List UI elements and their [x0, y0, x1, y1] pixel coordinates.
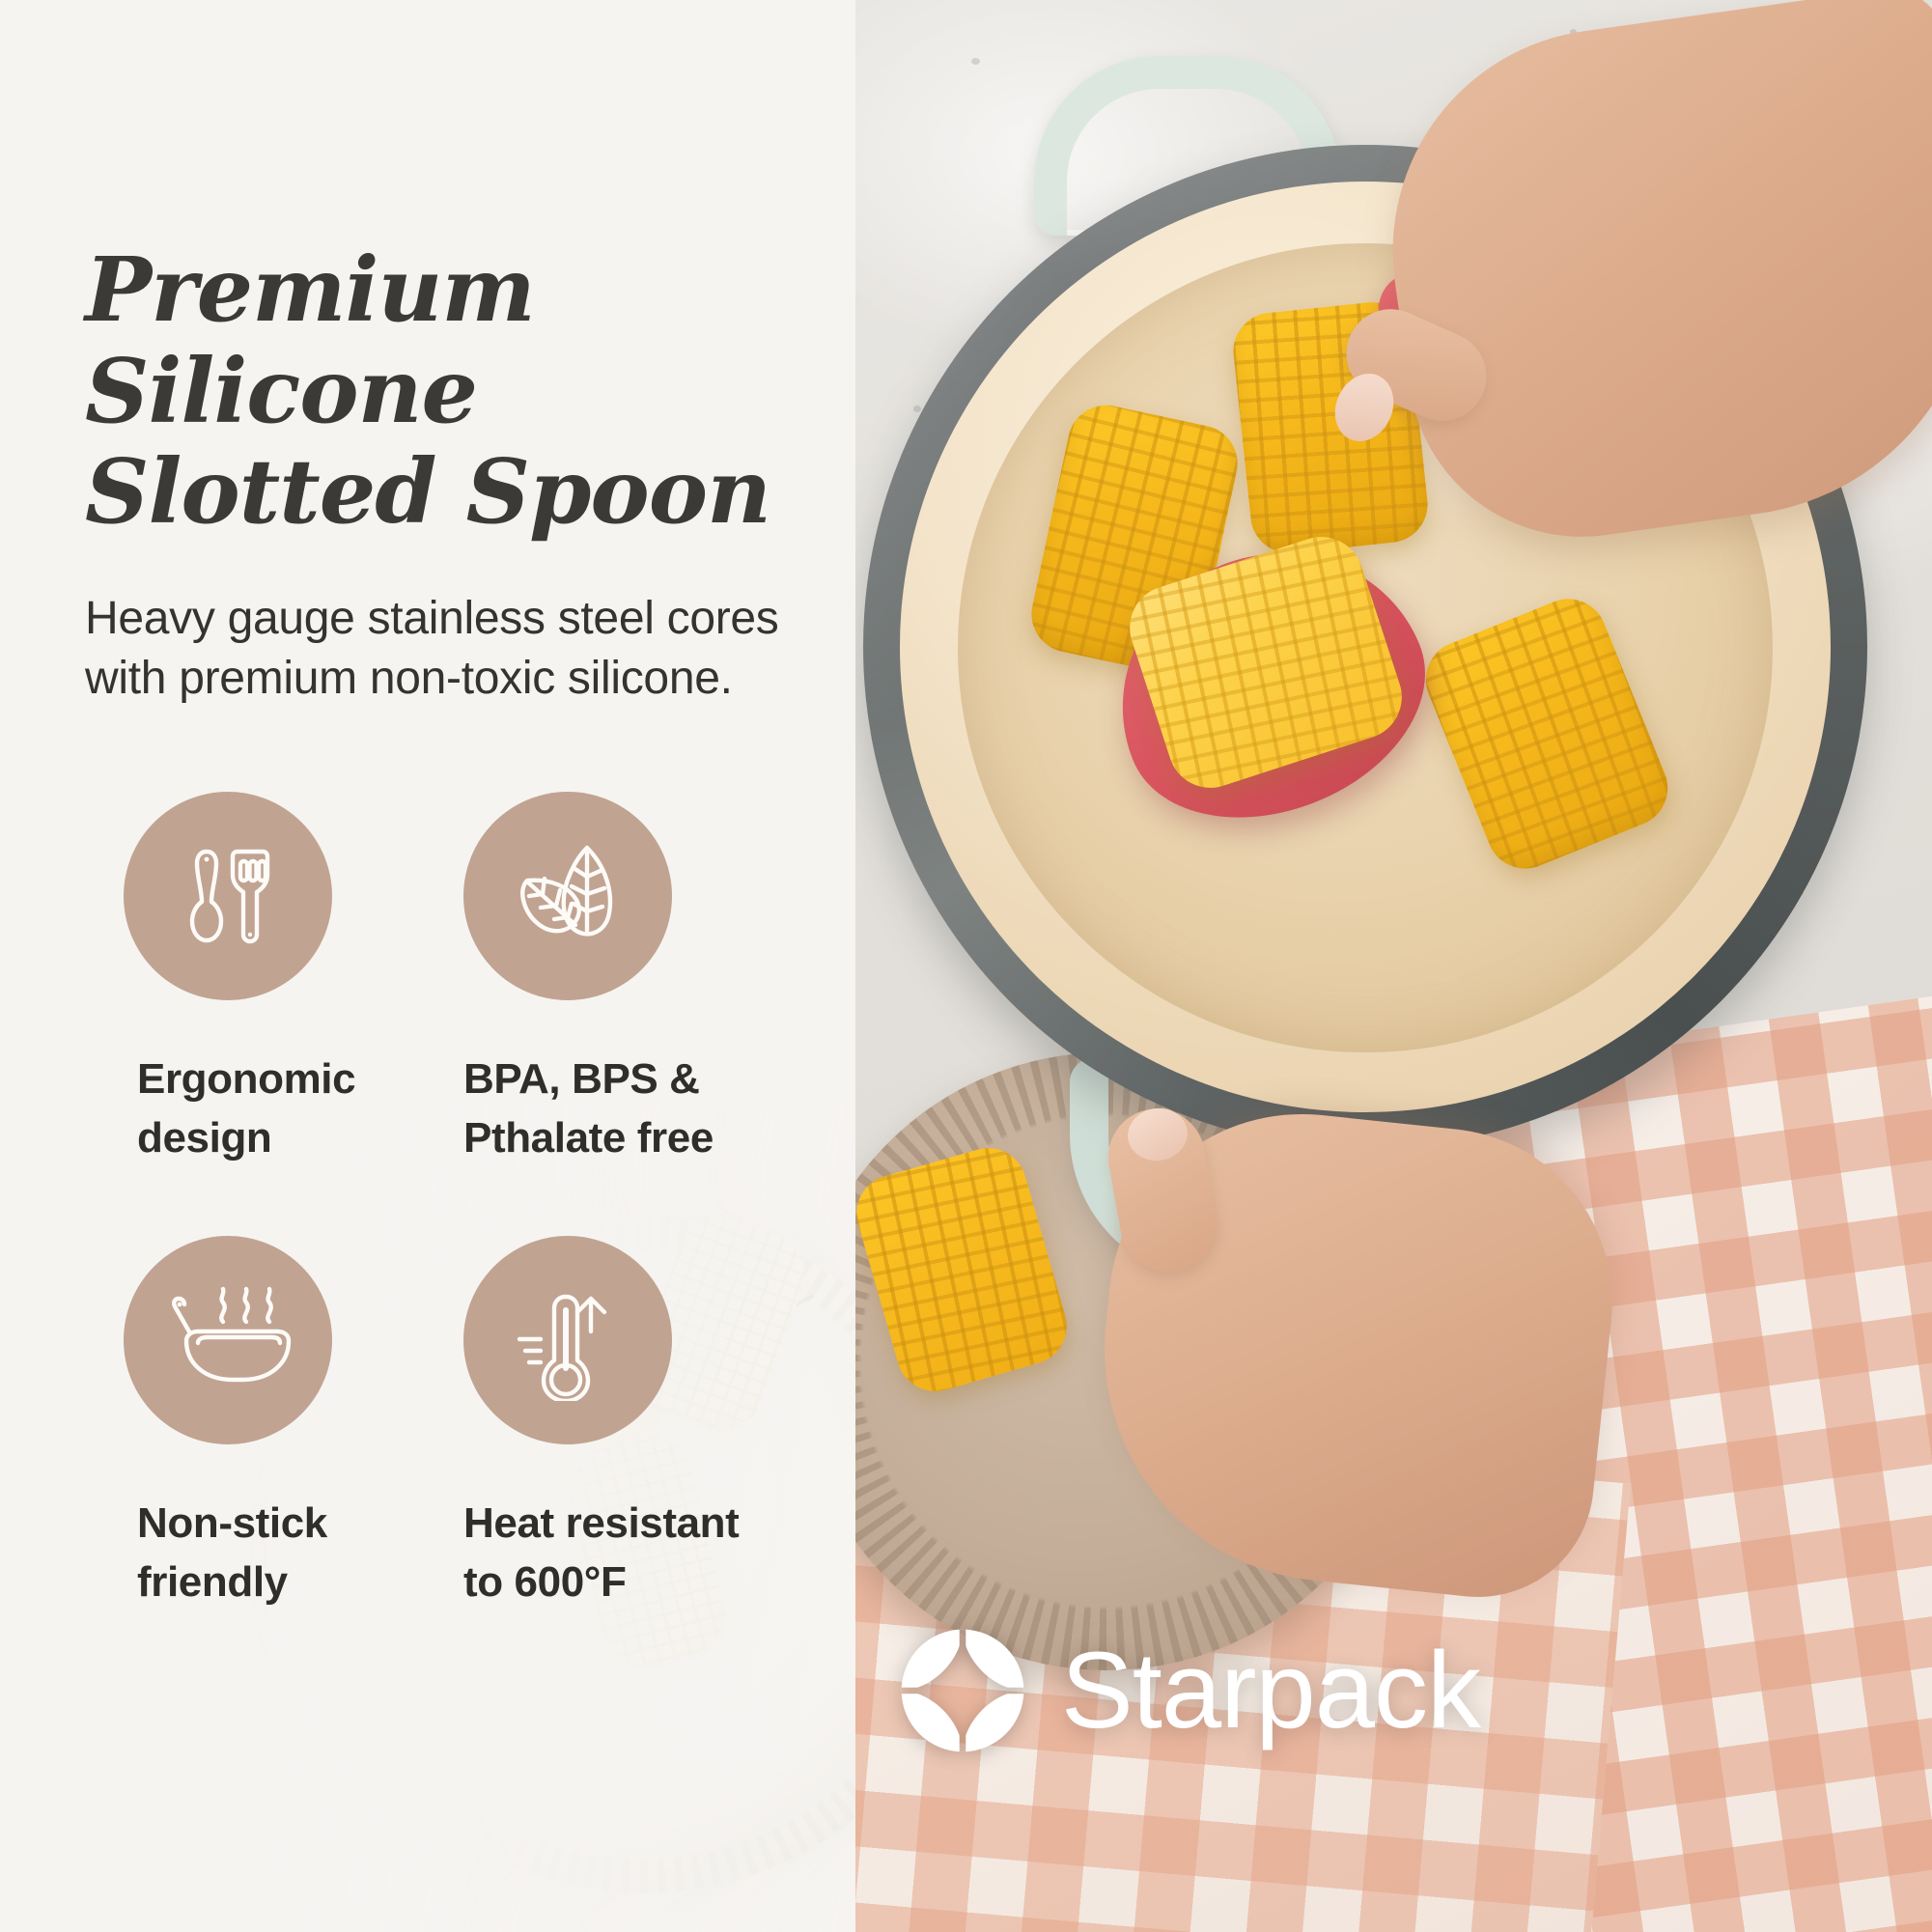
counter-speckle — [913, 406, 921, 412]
feature-label: Ergonomic design — [137, 1050, 355, 1167]
feature-label: Non-stick friendly — [137, 1495, 332, 1611]
product-infographic: Premium Silicone Slotted Spoon Heavy gau… — [0, 0, 1932, 1932]
feature-item-heat-resistant: Heat resistant to 600°F — [463, 1236, 739, 1611]
starpack-logo-icon — [899, 1627, 1026, 1754]
feature-item-ergonomic-design: Ergonomic design — [124, 792, 355, 1167]
feature-icon-circle — [463, 1236, 672, 1444]
feature-icon-circle — [124, 792, 332, 1000]
product-photo: Starpack — [855, 0, 1932, 1932]
left-info-panel: Premium Silicone Slotted Spoon Heavy gau… — [0, 0, 855, 1932]
subheading: Heavy gauge stainless steel cores with p… — [85, 589, 819, 710]
brand-lockup: Starpack — [899, 1627, 1480, 1754]
feature-icon-circle — [463, 792, 672, 1000]
leaf-icon — [506, 838, 630, 954]
counter-speckle — [971, 58, 980, 65]
frying-pan-icon — [163, 1283, 293, 1397]
left-content: Premium Silicone Slotted Spoon Heavy gau… — [0, 0, 855, 1932]
feature-label: Heat resistant to 600°F — [463, 1495, 739, 1611]
feature-item-non-stick: Non-stick friendly — [124, 1236, 332, 1611]
brand-wordmark: Starpack — [1061, 1637, 1480, 1745]
feature-item-bpa-free: BPA, BPS & Pthalate free — [463, 792, 714, 1167]
utensils-icon — [170, 838, 286, 954]
feature-label: BPA, BPS & Pthalate free — [463, 1050, 714, 1167]
thermometer-icon — [510, 1279, 626, 1401]
feature-icon-circle — [124, 1236, 332, 1444]
page-title: Premium Silicone Slotted Spoon — [85, 239, 848, 544]
